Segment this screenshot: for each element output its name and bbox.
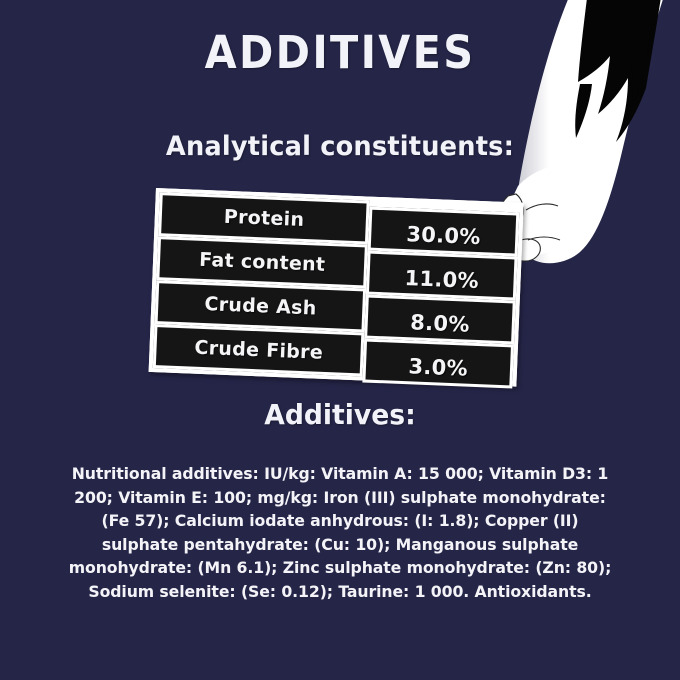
body-line: monohydrate: (Mn 6.1); Zinc sulphate mon… [53,556,627,580]
body-line: sulphate pentahydrate: (Cu: 10); Mangano… [53,533,627,557]
row-label: Fat content [160,247,365,277]
table-cell-value: 30.0% [368,207,519,257]
additives-panel: ADDITIVES Analytical constituents: Prote… [0,0,680,680]
row-value: 8.0% [368,309,512,339]
row-label: Protein [162,203,367,233]
analytical-constituents-heading: Analytical constituents: [17,131,663,162]
additives-heading: Additives: [17,398,663,431]
row-value: 11.0% [370,265,514,295]
body-line: Sodium selenite: (Se: 0.12); Taurine: 1 … [53,580,627,604]
analytical-constituents-table: Protein 30.0% Fat content 11.0% [149,188,524,387]
analytical-table-wrapper: Protein 30.0% Fat content 11.0% [149,188,524,387]
body-line: 200; Vitamin E: 100; mg/kg: Iron (III) s… [53,486,627,510]
table-cell-value: 3.0% [363,338,514,388]
page-title: ADDITIVES [27,26,653,79]
table-cell-label: Crude Fibre [153,324,365,376]
body-line: Nutritional additives: IU/kg: Vitamin A:… [53,462,627,486]
row-value: 3.0% [366,353,510,383]
table-cell-value: 11.0% [366,251,517,301]
body-line: (Fe 57); Calcium iodate anhydrous: (I: 1… [53,509,627,533]
row-value: 30.0% [371,221,515,251]
additives-body-text: Nutritional additives: IU/kg: Vitamin A:… [53,462,627,603]
row-label: Crude Ash [158,291,363,321]
table-cell-value: 8.0% [365,295,516,345]
row-label: Crude Fibre [156,335,361,365]
